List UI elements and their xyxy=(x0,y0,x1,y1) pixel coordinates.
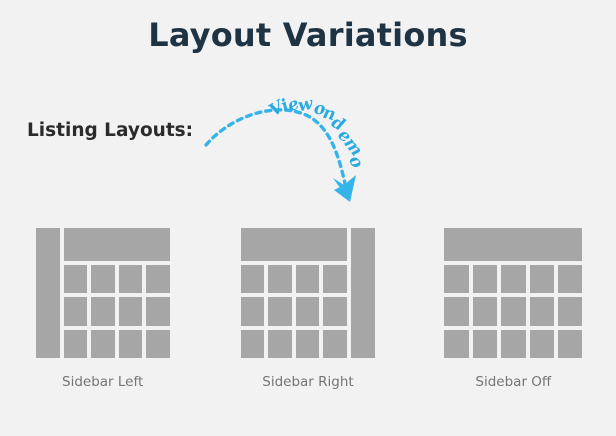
preview-tile xyxy=(501,330,525,358)
preview-tile xyxy=(323,265,347,293)
layout-caption: Sidebar Left xyxy=(62,374,143,390)
preview-tile xyxy=(444,330,468,358)
preview-tile xyxy=(91,330,115,358)
preview-header-bar xyxy=(241,228,347,261)
preview-tile xyxy=(296,297,320,325)
preview-tile xyxy=(146,330,170,358)
preview-tile xyxy=(444,297,468,325)
view-on-demo-annotation: V i e w o n d e m o xyxy=(198,93,388,213)
layout-option-sidebar-right[interactable]: Sidebar Right xyxy=(223,228,393,390)
preview-tile xyxy=(146,265,170,293)
preview-tile xyxy=(530,265,554,293)
preview-content-area xyxy=(444,228,582,358)
preview-tile xyxy=(444,265,468,293)
layout-caption: Sidebar Off xyxy=(475,374,551,390)
preview-header-bar xyxy=(64,228,170,261)
preview-tile xyxy=(473,330,497,358)
preview-tile xyxy=(558,265,582,293)
preview-sidebar-bar xyxy=(351,228,375,358)
preview-tile xyxy=(473,297,497,325)
preview-tile xyxy=(296,265,320,293)
preview-tile xyxy=(91,265,115,293)
preview-tile xyxy=(323,330,347,358)
preview-tile xyxy=(64,330,88,358)
preview-tile xyxy=(323,297,347,325)
preview-tile xyxy=(119,297,143,325)
preview-tile xyxy=(558,297,582,325)
preview-tile xyxy=(241,297,265,325)
preview-tile xyxy=(119,330,143,358)
preview-tile xyxy=(473,265,497,293)
page-title: Layout Variations xyxy=(0,16,616,54)
preview-tile xyxy=(241,330,265,358)
preview-tile-grid xyxy=(444,265,582,358)
preview-tile xyxy=(268,265,292,293)
preview-tile xyxy=(64,265,88,293)
preview-tile xyxy=(530,330,554,358)
section-label-listing-layouts: Listing Layouts: xyxy=(27,120,193,141)
preview-tile xyxy=(501,297,525,325)
preview-content-area xyxy=(64,228,170,358)
layout-preview-sidebar-left xyxy=(36,228,170,358)
layout-option-sidebar-off[interactable]: Sidebar Off xyxy=(428,228,598,390)
preview-tile xyxy=(530,297,554,325)
preview-sidebar-bar xyxy=(36,228,60,358)
preview-tile xyxy=(268,330,292,358)
preview-header-bar xyxy=(444,228,582,261)
preview-tile-grid xyxy=(64,265,170,358)
layout-preview-sidebar-off xyxy=(444,228,582,358)
preview-tile xyxy=(91,297,115,325)
layout-variations-page: Layout Variations Listing Layouts: V i e… xyxy=(0,0,616,436)
preview-tile-grid xyxy=(241,265,347,358)
preview-tile xyxy=(558,330,582,358)
layout-caption: Sidebar Right xyxy=(262,374,353,390)
preview-tile xyxy=(119,265,143,293)
layout-options-row: Sidebar Left xyxy=(0,228,616,390)
preview-tile xyxy=(501,265,525,293)
preview-tile xyxy=(64,297,88,325)
layout-preview-sidebar-right xyxy=(241,228,375,358)
preview-tile xyxy=(146,297,170,325)
preview-content-area xyxy=(241,228,347,358)
layout-option-sidebar-left[interactable]: Sidebar Left xyxy=(18,228,188,390)
preview-tile xyxy=(296,330,320,358)
preview-tile xyxy=(241,265,265,293)
preview-tile xyxy=(268,297,292,325)
